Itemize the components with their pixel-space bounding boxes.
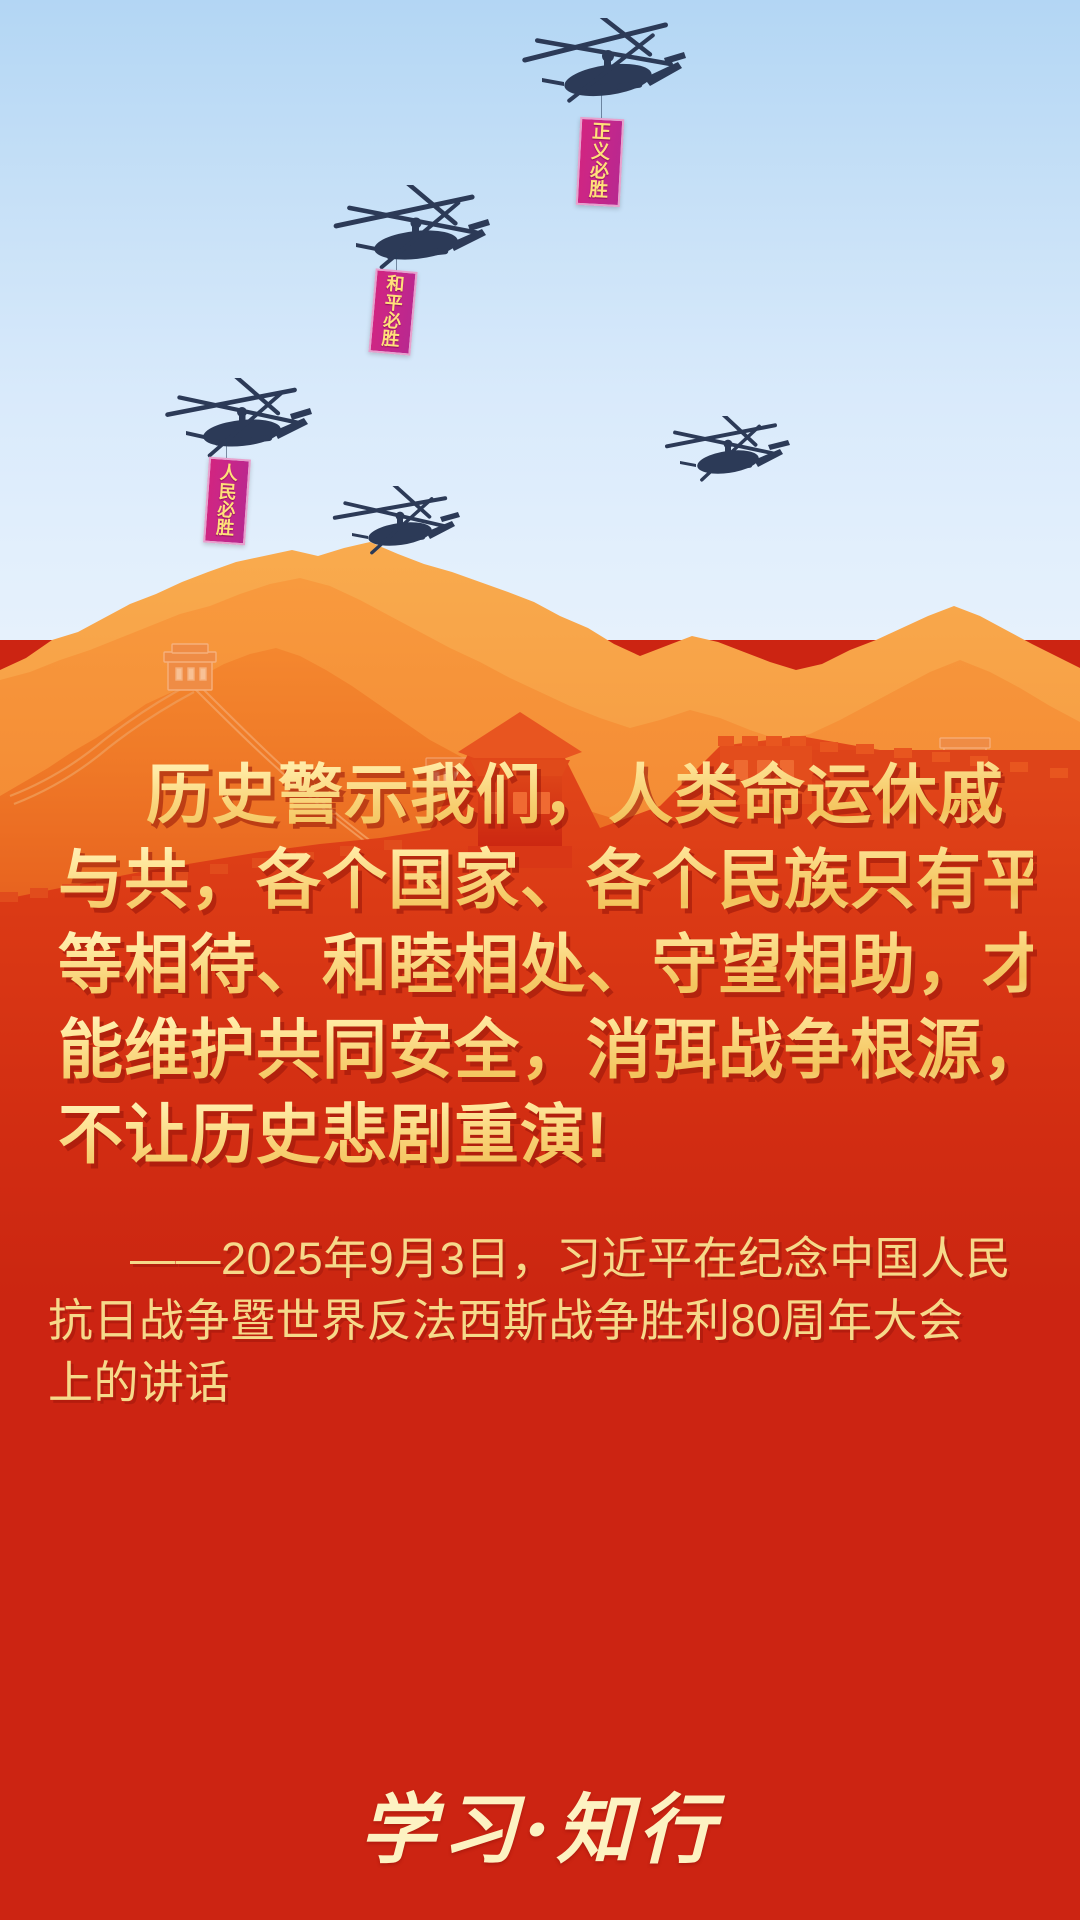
banner-justice-char-4: 胜 [588,181,608,201]
banner-people-char-1: 人 [219,464,238,484]
attribution-line-1: ——2025年9月3日，习近平在纪念中国人民 [48,1228,1048,1290]
banner-justice-char-2: 义 [590,142,610,162]
quote-line-3: 等相待、和睦相处、守望相助，才 [58,922,1033,1007]
attribution-block: ——2025年9月3日，习近平在纪念中国人民 抗日战争暨世界反法西斯战争胜利80… [48,1228,1048,1414]
banner-people: 人 民 必 胜 [203,457,251,546]
banner-peace: 和 平 必 胜 [368,268,417,355]
banner-peace-char-1: 和 [386,275,406,295]
helicopter-4 [330,486,460,568]
quote-line-5: 不让历史悲剧重演! [58,1092,1033,1177]
banner-justice-char-1: 正 [592,123,612,143]
poster-canvas: 正 义 必 胜 和 平 必 胜 人 民 必 胜 历史警示我们，人类命运休戚 与共… [0,0,1080,1920]
attribution-line-3: 上的讲话 [48,1352,1048,1414]
banner-justice: 正 义 必 胜 [576,117,625,207]
banner-people-char-4: 胜 [215,519,234,539]
attribution-line-2: 抗日战争暨世界反法西斯战争胜利80周年大会 [48,1290,1048,1352]
quote-line-1: 历史警示我们，人类命运休戚 [58,752,1033,837]
brand-logo: 学习·知行 [0,1768,1080,1878]
quote-line-2: 与共，各个国家、各个民族只有平 [58,837,1033,922]
quote-block: 历史警示我们，人类命运休戚 与共，各个国家、各个民族只有平 等相待、和睦相处、守… [58,752,1033,1177]
banner-peace-char-4: 胜 [381,330,401,350]
quote-line-4: 能维护共同安全，消弭战争根源， [58,1007,1033,1092]
helicopter-5 [662,416,792,498]
brand-logo-text: 学习·知行 [360,1768,720,1878]
